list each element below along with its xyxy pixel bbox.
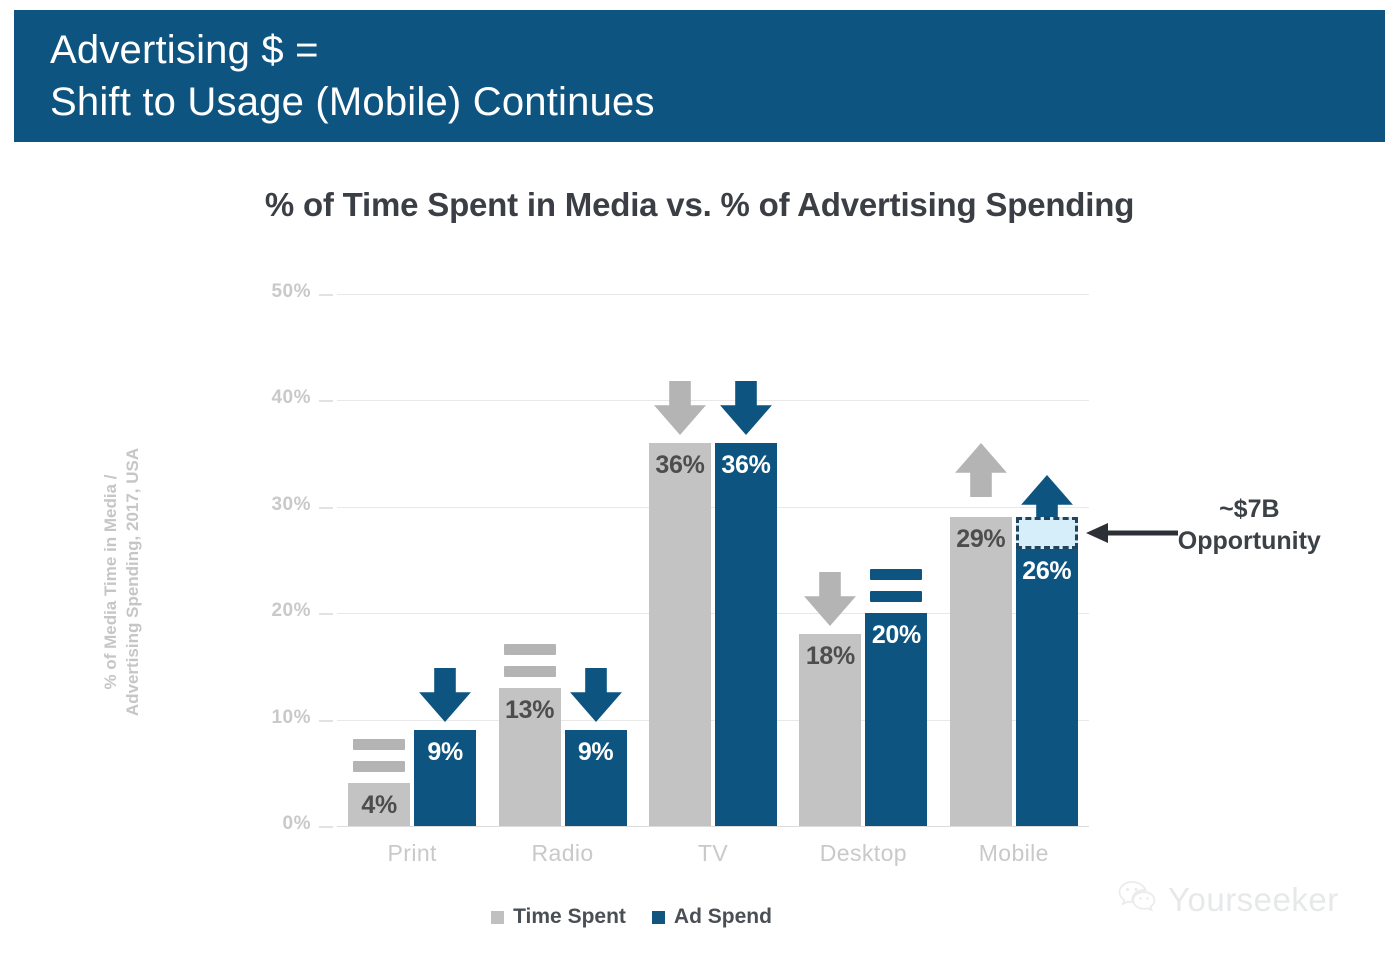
arrow-up-icon [954, 439, 1008, 501]
y-axis-tick-label: 0% [241, 813, 311, 835]
opportunity-word: Opportunity [1178, 525, 1321, 557]
gridline [337, 294, 1089, 295]
gridline [337, 507, 1089, 508]
bar-value-label: 18% [793, 642, 867, 671]
arrow-down-icon [418, 664, 472, 726]
equals-icon [353, 739, 405, 773]
bar-value-label: 9% [408, 738, 482, 767]
bar-value-label: 20% [859, 621, 933, 650]
chart-plot-area: 0%10%20%30%40%50% % of Media Time in Med… [0, 0, 1399, 960]
legend-item-ad-spend: Ad Spend [652, 905, 772, 929]
x-axis-label-mobile: Mobile [939, 840, 1089, 867]
bar-tv-ad-spend [715, 443, 777, 826]
y-axis-title: % of Media Time in Media / Advertising S… [100, 372, 144, 792]
bar-value-label: 26% [1010, 557, 1084, 586]
bar-mobile-ad-spend [1016, 549, 1078, 826]
x-axis-label-desktop: Desktop [788, 840, 938, 867]
legend-swatch-icon [652, 911, 665, 924]
y-axis-tick-label: 30% [241, 494, 311, 516]
y-axis-tick-mark [319, 507, 333, 509]
bar-value-label: 9% [559, 738, 633, 767]
x-axis-label-radio: Radio [487, 840, 637, 867]
bar-mobile-time-spent [950, 517, 1012, 826]
bar-value-label: 36% [643, 451, 717, 480]
watermark-text: Yourseeker [1168, 881, 1339, 919]
x-axis-label-print: Print [337, 840, 487, 867]
equals-icon [870, 569, 922, 603]
wechat-icon [1118, 880, 1158, 919]
y-axis-tick-label: 50% [241, 281, 311, 303]
y-axis-tick-mark [319, 294, 333, 296]
equals-bar [870, 591, 922, 602]
watermark: Yourseeker [1118, 880, 1339, 919]
equals-bar [504, 666, 556, 677]
y-axis-tick-mark [319, 720, 333, 722]
opportunity-arrow-icon [1084, 523, 1180, 548]
bar-tv-time-spent [649, 443, 711, 826]
legend-label: Ad Spend [674, 905, 772, 929]
legend-label: Time Spent [513, 905, 626, 929]
bar-value-label: 4% [342, 791, 416, 820]
y-axis-tick-label: 10% [241, 707, 311, 729]
legend-item-time-spent: Time Spent [491, 905, 626, 929]
bar-value-label: 29% [944, 525, 1018, 554]
arrow-down-icon [569, 664, 623, 726]
opportunity-callout: ~$7B Opportunity [1178, 493, 1321, 557]
y-axis-tick-mark [319, 613, 333, 615]
equals-bar [353, 761, 405, 772]
arrow-down-icon [803, 568, 857, 630]
equals-icon [504, 644, 556, 678]
equals-bar [504, 644, 556, 655]
gridline [337, 826, 1089, 827]
opportunity-amount: ~$7B [1178, 493, 1321, 525]
y-axis-tick-label: 40% [241, 387, 311, 409]
y-axis-tick-mark [319, 826, 333, 828]
x-axis-label-tv: TV [638, 840, 788, 867]
gridline [337, 400, 1089, 401]
bar-value-label: 36% [709, 451, 783, 480]
bar-value-label: 13% [493, 696, 567, 725]
y-axis-tick-mark [319, 400, 333, 402]
legend-swatch-icon [491, 911, 504, 924]
opportunity-box [1016, 517, 1078, 549]
arrow-down-icon [653, 377, 707, 439]
arrow-down-icon [719, 377, 773, 439]
equals-bar [353, 739, 405, 750]
equals-bar [870, 569, 922, 580]
y-axis-tick-label: 20% [241, 600, 311, 622]
